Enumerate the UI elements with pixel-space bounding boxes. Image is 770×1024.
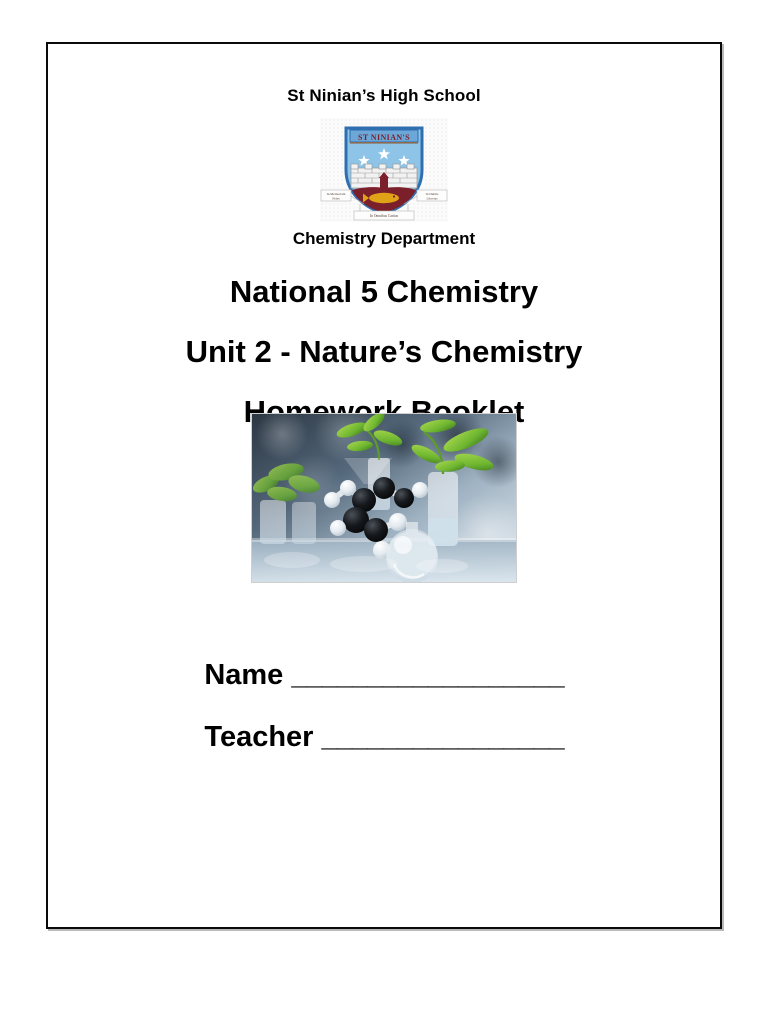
page-content: St Ninian’s High School ST NINIAN'S [48, 44, 720, 927]
name-field-label: Name [204, 659, 283, 691]
name-field-row[interactable]: Name __________________ [48, 644, 720, 706]
teacher-field-label: Teacher [204, 721, 313, 753]
teacher-field-rule[interactable]: ________________ [322, 721, 564, 753]
svg-text:Fides: Fides [332, 196, 340, 200]
title-line-unit: Unit 2 - Nature’s Chemistry [48, 322, 720, 382]
crest-icon: ST NINIAN'S [320, 118, 448, 222]
student-fields: Name __________________ Teacher ________… [48, 644, 720, 768]
name-field-rule[interactable]: __________________ [291, 659, 563, 691]
svg-text:In Omnibus Caritas: In Omnibus Caritas [370, 214, 399, 218]
title-line-course: National 5 Chemistry [48, 262, 720, 322]
cover-photo [251, 413, 517, 583]
department-heading: Chemistry Department [48, 229, 720, 249]
school-crest: ST NINIAN'S [320, 118, 448, 222]
svg-text:Libertas: Libertas [426, 196, 438, 200]
teacher-field-row[interactable]: Teacher ________________ [48, 706, 720, 768]
svg-text:ST NINIAN'S: ST NINIAN'S [358, 133, 410, 142]
cover-photo-image [252, 414, 516, 582]
page-border-frame: St Ninian’s High School ST NINIAN'S [46, 42, 722, 929]
school-name-heading: St Ninian’s High School [48, 86, 720, 106]
